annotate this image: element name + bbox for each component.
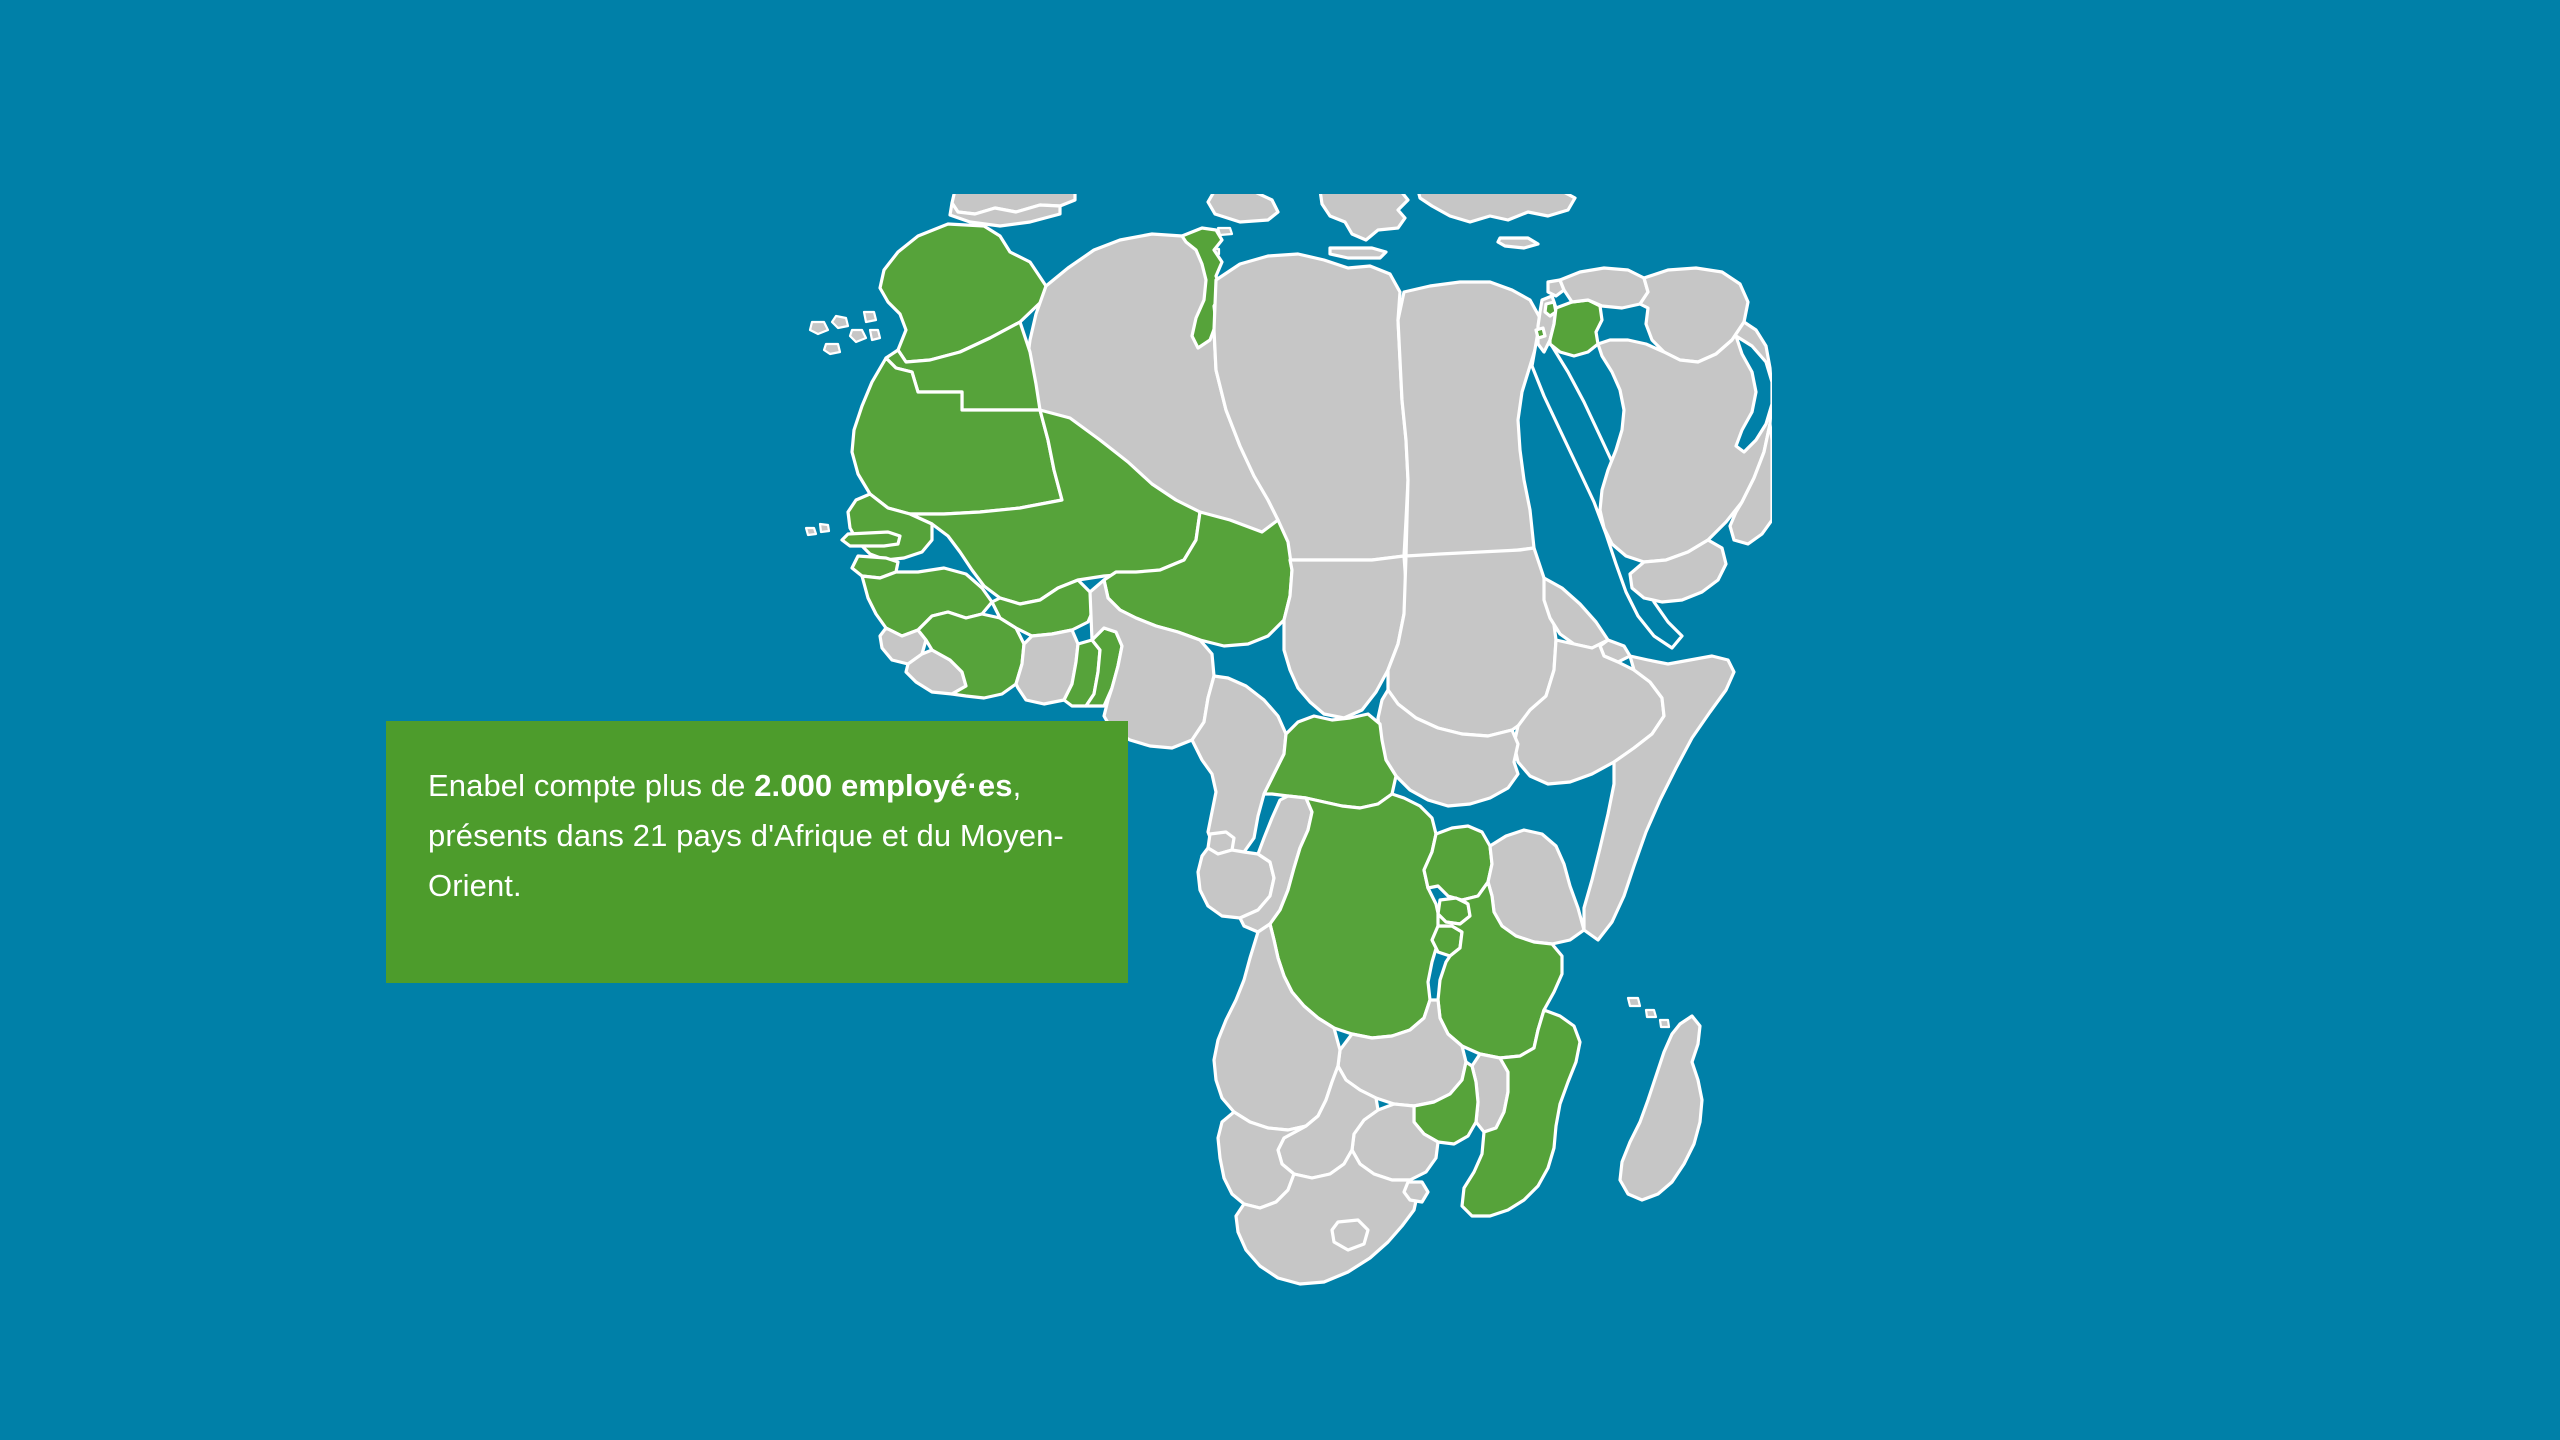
country-crete (1330, 248, 1386, 258)
map-layer (0, 0, 2560, 1440)
country-lesotho (1332, 1220, 1368, 1250)
island-comoros-2 (1646, 1010, 1656, 1017)
caption-text: Enabel compte plus de 2.000 employé·es, … (428, 761, 1084, 912)
country-madagascar (1620, 1016, 1702, 1200)
country-turkey (1418, 190, 1575, 222)
country-eswatini (1404, 1182, 1428, 1202)
island-cape-verde-1 (806, 528, 816, 535)
island-comoros-1 (1628, 998, 1640, 1006)
island-canary-4 (824, 344, 840, 354)
country-jordan (1550, 300, 1602, 356)
country-syria (1560, 268, 1648, 308)
caption-box: Enabel compte plus de 2.000 employé·es, … (386, 721, 1128, 983)
country-greece (1320, 190, 1408, 240)
island-canary-1 (810, 322, 828, 334)
slide-canvas: Enabel compte plus de 2.000 employé·es, … (0, 0, 2560, 1440)
island-group-canary (810, 312, 880, 354)
caption-part-1: Enabel compte plus de (428, 768, 754, 803)
country-sicily (1208, 190, 1278, 222)
island-canary-3 (850, 330, 866, 342)
country-gambia (842, 532, 900, 546)
island-group-cape-verde (806, 524, 829, 535)
island-canary-6 (870, 330, 880, 340)
island-canary-2 (832, 316, 848, 328)
island-cape-verde-2 (820, 524, 829, 532)
island-mayotte (1660, 1020, 1669, 1027)
caption-emphasis: 2.000 employé·es (754, 768, 1012, 803)
africa-middle-east-map (0, 0, 2560, 1440)
country-palestine-gaza (1536, 328, 1545, 338)
country-cyprus (1498, 238, 1538, 248)
island-canary-5 (864, 312, 876, 322)
country-egypt (1398, 282, 1540, 556)
